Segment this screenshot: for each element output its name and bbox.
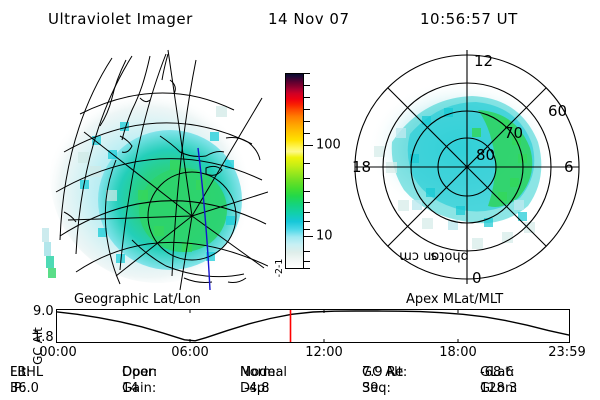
colorbar-ticks: 100 10	[304, 71, 350, 271]
dsp-value: -4.8	[244, 381, 269, 396]
gc-altitude-trace	[56, 311, 570, 341]
dsp-status: Dsp: -4.8	[240, 381, 244, 396]
observation-time: 10:56:57 UT	[420, 10, 518, 28]
header-bar: Ultraviolet Imager 14 Nov 07 10:56:57 UT	[0, 8, 600, 34]
colorbar-gradient	[285, 73, 304, 269]
apex-mlat-mlt-panel: 12 6 0 18 60 70 80	[352, 50, 588, 290]
strip-x-axis: 00:00 06:00 12:00 18:00 23:59	[0, 345, 600, 361]
mlat-label-80: 80	[476, 146, 495, 164]
strip-ytick-low: 1.8	[33, 330, 54, 345]
mlt-spokes	[355, 50, 579, 284]
gc-altitude-strip-chart[interactable]	[56, 309, 570, 343]
instrument-title: Ultraviolet Imager	[48, 10, 193, 28]
strip-xtick-3: 18:00	[439, 345, 476, 360]
mlt-label-0: 0	[472, 269, 482, 287]
aurora-emission-left	[44, 92, 252, 292]
glat-value: -68.6	[480, 365, 514, 380]
glon-value: 128.3	[480, 381, 517, 396]
gain-value: 14	[122, 381, 139, 396]
seq-value: 39	[362, 381, 379, 396]
mlat-label-60: 60	[548, 102, 567, 120]
strip-frame	[57, 310, 570, 343]
strip-xtick-4: 23:59	[548, 345, 585, 360]
door-value: Open	[122, 365, 157, 380]
mlat-label-70: 70	[504, 124, 523, 142]
status-block: Flt: LBHL IP: 36.0 Door: Open Gain: 14 M…	[0, 364, 600, 398]
mlt-label-12: 12	[474, 52, 493, 70]
colorbar-unit-exp1: -2	[274, 268, 285, 277]
colorbar-tick-100: 100	[316, 139, 341, 152]
strip-xtick-1: 06:00	[171, 345, 208, 360]
ip-value: 36.0	[10, 381, 39, 396]
mlt-label-6: 6	[564, 158, 574, 176]
strip-ytick-high: 9.0	[33, 304, 54, 319]
colorbar-unit-exp2: -1	[274, 259, 285, 268]
gcalt-value: 7.9 Re	[362, 365, 403, 380]
colorbar-axis-label: photon cm-2s-1	[260, 108, 280, 268]
mlt-label-18: 18	[352, 158, 371, 176]
strip-xtick-0: 00:00	[39, 345, 76, 360]
left-panel-title: Geographic Lat/Lon	[74, 292, 201, 307]
colorbar-scale	[285, 73, 304, 269]
right-panel-title: Apex MLat/MLT	[406, 292, 503, 307]
mode-value: Normal	[240, 365, 287, 380]
geographic-panel	[20, 40, 268, 292]
colorbar-tick-10: 10	[316, 230, 333, 243]
aurora-patch-detached	[42, 228, 56, 278]
strip-xtick-2: 12:00	[305, 345, 342, 360]
filter-value: LBHL	[10, 365, 43, 380]
observation-date: 14 Nov 07	[268, 10, 350, 28]
